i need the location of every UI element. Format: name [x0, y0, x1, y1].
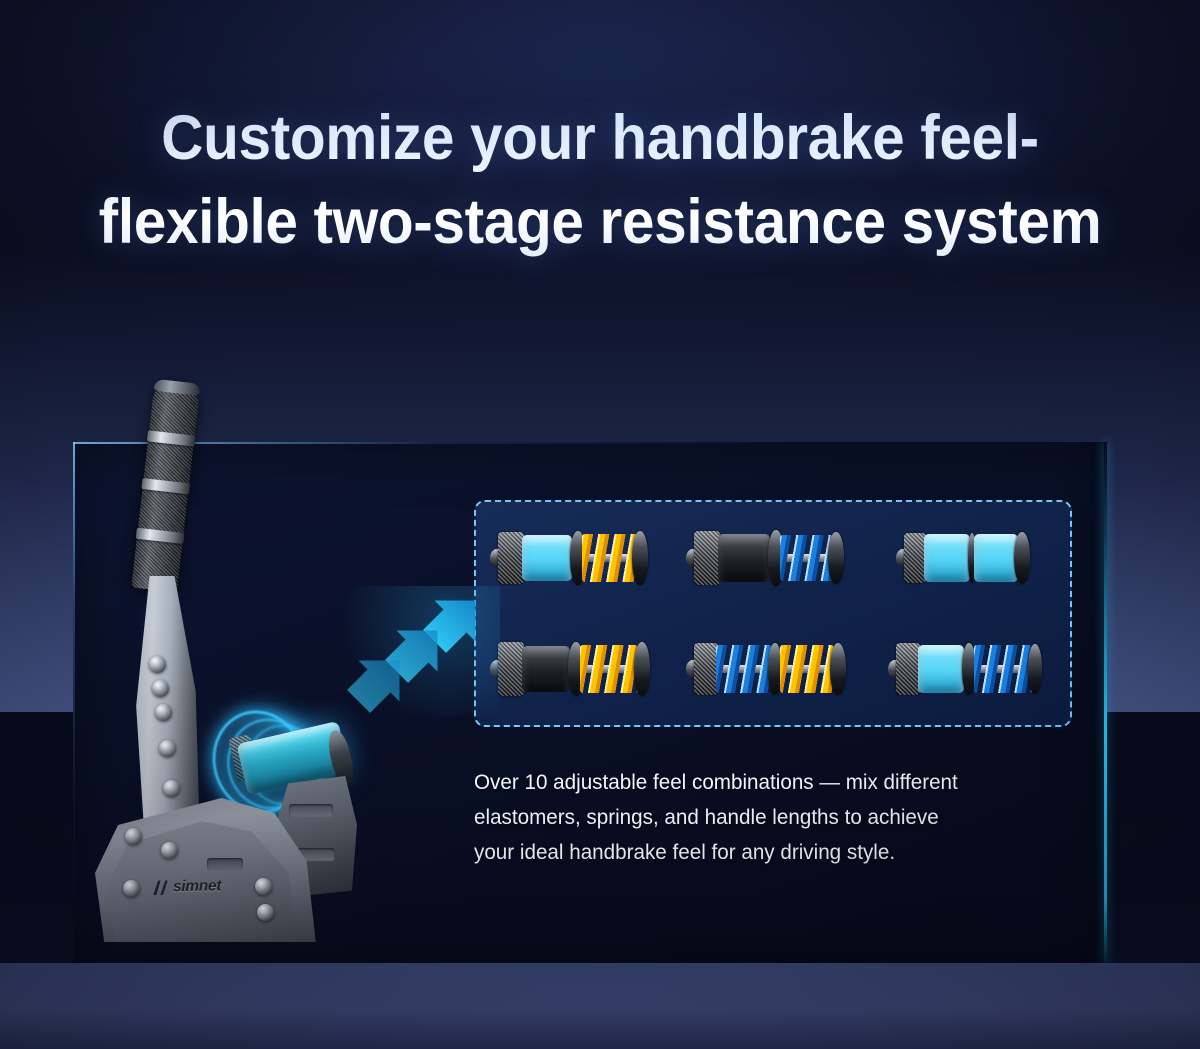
panel-left-edge-highlight: [73, 442, 75, 963]
lever-bolt: [155, 704, 172, 721]
grip-chrome-ring: [147, 430, 196, 446]
base-bolt: [255, 878, 272, 895]
part-combo-3: [884, 518, 1059, 598]
lever-bolt: [152, 680, 169, 697]
part-combo-1: [488, 518, 663, 598]
base-bolt: [161, 842, 178, 859]
handbrake-product-image: simnet: [95, 380, 425, 940]
brand-logo: simnet: [153, 877, 221, 896]
lever-bolt: [149, 656, 166, 673]
promo-banner: Customize your handbrake feel- flexible …: [0, 0, 1200, 1049]
lever-bolt: [159, 740, 176, 757]
parts-grid: [476, 502, 1070, 725]
brand-name: simnet: [173, 877, 221, 896]
base-bolt: [257, 904, 274, 921]
handbrake-grip: [131, 379, 200, 593]
base-bolt: [123, 880, 140, 897]
page-title: Customize your handbrake feel- flexible …: [42, 96, 1158, 265]
feature-description: Over 10 adjustable feel combinations — m…: [474, 765, 1050, 869]
part-combo-4: [488, 629, 663, 709]
base-slot: [207, 858, 243, 870]
panel-right-edge-accent: [1104, 442, 1107, 963]
grip-chrome-ring: [141, 478, 190, 494]
lever-bolt: [163, 780, 180, 797]
grip-end-cap: [154, 379, 201, 396]
base-bolt: [125, 828, 142, 845]
part-combo-6: [884, 629, 1059, 709]
part-combo-5: [686, 629, 861, 709]
simnet-logo-icon: [153, 880, 168, 895]
background-bottom-band: [0, 963, 1200, 1049]
grip-chrome-ring: [136, 528, 185, 544]
part-combo-2: [686, 518, 861, 598]
mount-slot: [289, 804, 333, 817]
parts-showcase-box: [474, 500, 1072, 727]
